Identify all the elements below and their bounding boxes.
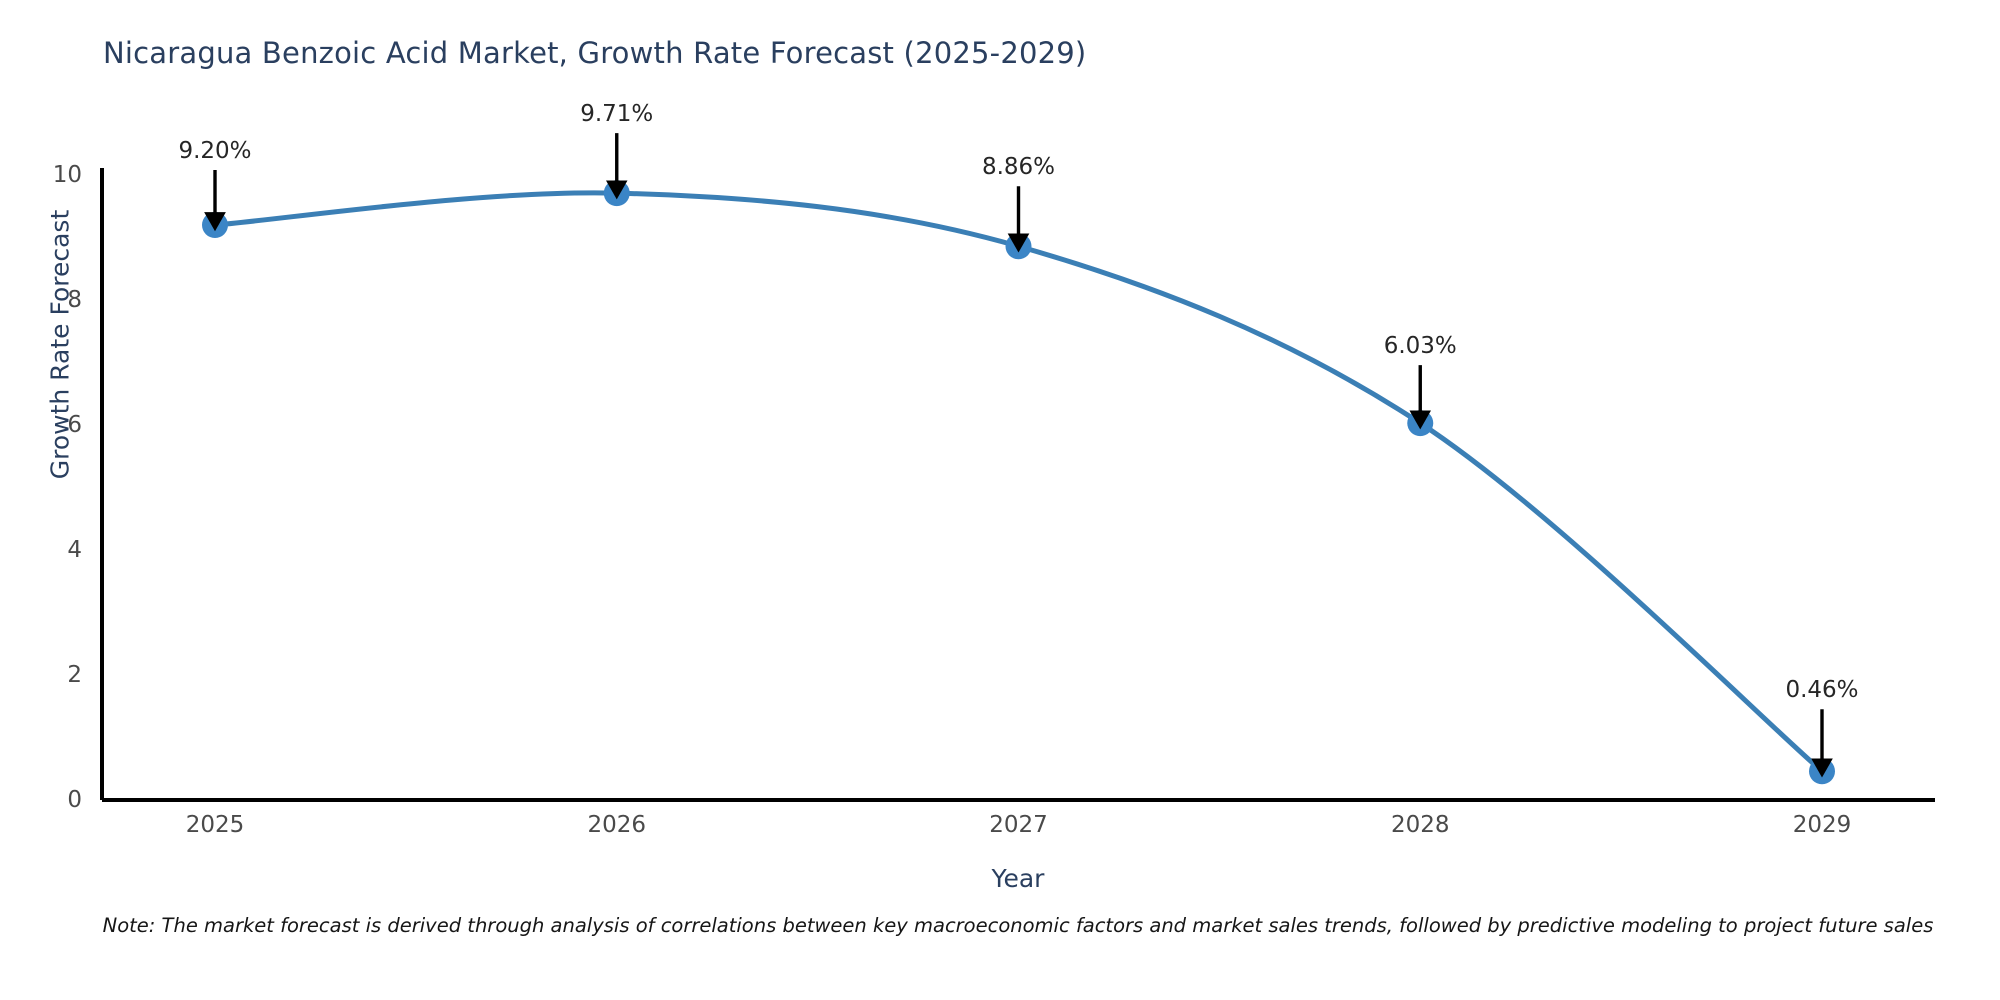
- plot-area: [0, 0, 2000, 1000]
- y-tick-label: 0: [22, 787, 82, 813]
- data-value-label: 0.46%: [1785, 677, 1858, 703]
- x-tick-label: 2027: [989, 812, 1048, 838]
- y-tick-label: 2: [22, 662, 82, 688]
- x-tick-label: 2026: [587, 812, 646, 838]
- y-tick-label: 4: [22, 537, 82, 563]
- x-tick-label: 2025: [186, 812, 245, 838]
- data-value-label: 9.71%: [580, 101, 653, 127]
- data-value-label: 9.20%: [178, 138, 251, 164]
- data-value-label: 8.86%: [982, 154, 1055, 180]
- annotation-arrows: [215, 133, 1822, 767]
- y-tick-label: 10: [22, 162, 82, 188]
- y-tick-label: 6: [22, 412, 82, 438]
- forecast-line: [215, 193, 1822, 771]
- y-tick-label: 8: [22, 287, 82, 313]
- x-tick-label: 2029: [1793, 812, 1852, 838]
- chart-figure: Nicaragua Benzoic Acid Market, Growth Ra…: [0, 0, 2000, 1000]
- x-tick-label: 2028: [1391, 812, 1450, 838]
- data-point-markers: [202, 180, 1835, 784]
- chart-footnote: Note: The market forecast is derived thr…: [103, 914, 1934, 937]
- data-value-label: 6.03%: [1384, 333, 1457, 359]
